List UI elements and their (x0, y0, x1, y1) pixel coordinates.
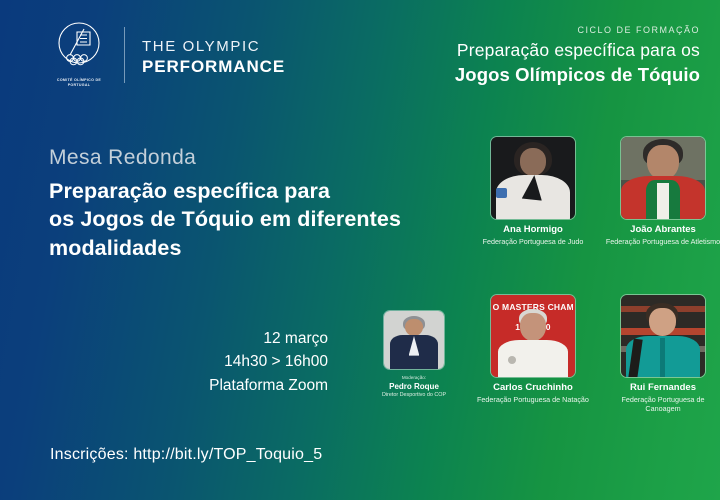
moderator-card-pedro-roque: Moderação: Pedro Roque Diretor Desportiv… (372, 310, 456, 399)
speaker-name: Rui Fernandes (603, 383, 720, 394)
event-date: 12 março (60, 327, 328, 350)
title-line-2: os Jogos de Tóquio em diferentes (49, 205, 449, 233)
speaker-photo-carlos-cruchinho: O MASTERS CHAM 19.0 - 20 (490, 294, 576, 378)
speaker-org: Federação Portuguesa de Natação (476, 396, 590, 405)
olympic-committee-logo-icon: COMITÉ OLÍMPICO DE PORTUGAL (48, 22, 110, 88)
series-line-2: Jogos Olímpicos de Tóquio (455, 66, 700, 85)
moderator-photo-pedro-roque (383, 310, 445, 370)
moderator-label: Moderação: (372, 375, 456, 380)
brand-divider (124, 27, 125, 83)
speaker-org: Federação Portuguesa de Atletismo (603, 238, 720, 247)
brand-line-1: THE OLYMPIC (142, 39, 285, 54)
speaker-photo-ana-hormigo (490, 136, 576, 220)
speaker-photo-rui-fernandes (620, 294, 706, 378)
poster-header: COMITÉ OLÍMPICO DE PORTUGAL THE OLYMPIC … (0, 0, 720, 105)
series-eyebrow: CICLO DE FORMAÇÃO (455, 26, 700, 35)
page-title: Preparação específica para os Jogos de T… (49, 177, 449, 262)
speaker-photo-joao-abrantes (620, 136, 706, 220)
event-details: 12 março 14h30 > 16h00 Plataforma Zoom (60, 327, 328, 397)
program-series-heading: CICLO DE FORMAÇÃO Preparação específica … (455, 26, 700, 84)
shield-rings-icon (57, 22, 101, 68)
title-block: Mesa Redonda Preparação específica para … (49, 146, 449, 262)
speaker-name: João Abrantes (603, 225, 720, 236)
logo-caption: COMITÉ OLÍMPICO DE PORTUGAL (48, 78, 110, 88)
speaker-org: Federação Portuguesa de Judo (476, 238, 590, 247)
speaker-name: Carlos Cruchinho (476, 383, 590, 394)
speaker-name: Ana Hormigo (476, 225, 590, 236)
brand-wordmark: THE OLYMPIC PERFORMANCE (142, 36, 285, 75)
title-line-1: Preparação específica para (49, 177, 449, 205)
registration-link[interactable]: Inscrições: http://bit.ly/TOP_Toquio_5 (50, 446, 322, 464)
speaker-org: Federação Portuguesa de Canoagem (603, 396, 720, 413)
brand-line-2: PERFORMANCE (142, 58, 285, 75)
series-line-1: Preparação específica para os (455, 42, 700, 60)
event-platform: Plataforma Zoom (60, 374, 328, 397)
moderator-name: Pedro Roque (372, 382, 456, 391)
brand-lockup: COMITÉ OLÍMPICO DE PORTUGAL THE OLYMPIC … (48, 22, 285, 88)
speaker-card-ana-hormigo: Ana Hormigo Federação Portuguesa de Judo (476, 136, 590, 247)
event-poster: COMITÉ OLÍMPICO DE PORTUGAL THE OLYMPIC … (0, 0, 720, 500)
speaker-card-joao-abrantes: João Abrantes Federação Portuguesa de At… (603, 136, 720, 247)
speaker-card-carlos-cruchinho: O MASTERS CHAM 19.0 - 20 Carlos Cruchinh… (476, 294, 590, 405)
event-time: 14h30 > 16h00 (60, 350, 328, 373)
event-format-kicker: Mesa Redonda (49, 146, 449, 170)
speaker-card-rui-fernandes: Rui Fernandes Federação Portuguesa de Ca… (603, 294, 720, 413)
moderator-role: Diretor Desportivo do COP (372, 392, 456, 398)
title-line-3: modalidades (49, 234, 449, 262)
